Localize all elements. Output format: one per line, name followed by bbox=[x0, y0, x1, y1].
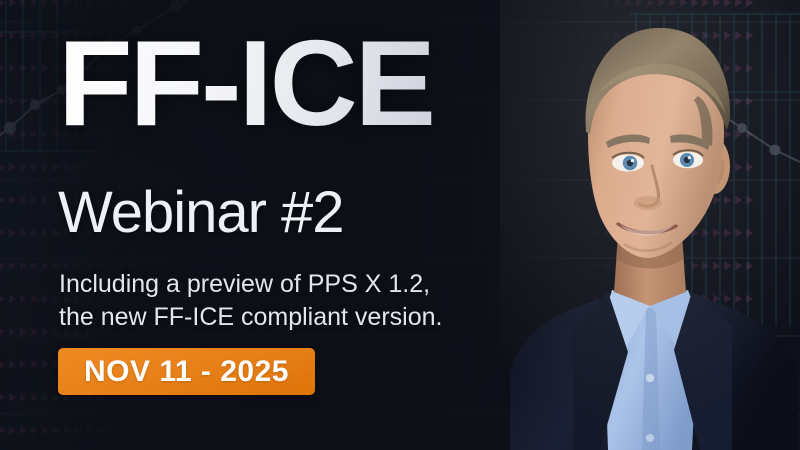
date-badge[interactable]: NOV 11 - 2025 bbox=[58, 348, 315, 395]
description-line-1: Including a preview of PPS X 1.2, bbox=[59, 268, 442, 301]
date-badge-label: NOV 11 - 2025 bbox=[84, 355, 289, 389]
description-line-2: the new FF-ICE compliant version. bbox=[59, 301, 442, 334]
banner-content: FF-ICE Webinar #2 Including a preview of… bbox=[58, 0, 578, 450]
webinar-subtitle: Webinar #2 bbox=[58, 184, 344, 242]
webinar-description: Including a preview of PPS X 1.2, the ne… bbox=[59, 268, 442, 334]
page-title: FF-ICE bbox=[58, 22, 433, 144]
webinar-banner: FF-ICE Webinar #2 Including a preview of… bbox=[0, 0, 800, 450]
